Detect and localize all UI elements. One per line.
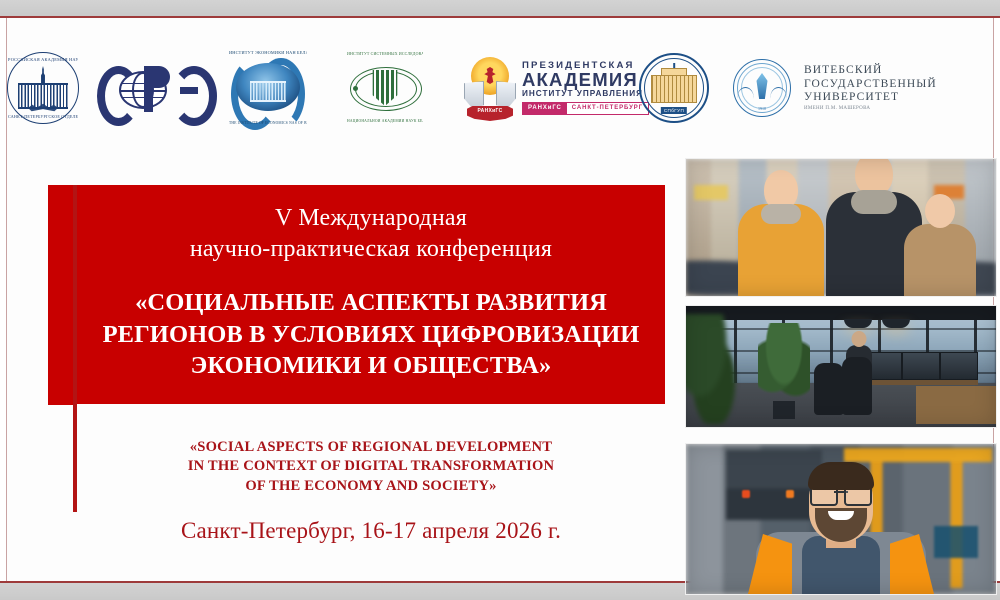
conference-title: «СОЦИАЛЬНЫЕ АСПЕКТЫ РАЗВИТИЯ РЕГИОНОВ В … bbox=[103, 287, 640, 381]
ras-spb-tower-icon bbox=[40, 66, 47, 84]
logo-institute-economics-nas-belarus: ИНСТИТУТ ЭКОНОМИКИ НАН БЕЛАРУСИ THE INST… bbox=[215, 52, 337, 124]
conference-title-english-line-2: IN THE CONTEXT OF DIGITAL TRANSFORMATION bbox=[81, 457, 661, 476]
ranepa-wing-right-icon bbox=[496, 81, 516, 109]
conference-title-banner: V Международная научно-практическая конф… bbox=[77, 185, 665, 404]
logo-iprye-ran bbox=[85, 52, 215, 124]
conference-place-and-date: Санкт-Петербург, 16-17 апреля 2026 г. bbox=[81, 518, 661, 544]
photo-3-canvas bbox=[686, 444, 996, 594]
conference-title-line-3: ЭКОНОМИКИ И ОБЩЕСТВА» bbox=[103, 350, 640, 381]
institute-system-research-seal-icon: ИНСТИТУТ СИСТЕМНЫХ ИССЛЕДОВАНИЙ В АПК НА… bbox=[347, 50, 423, 126]
iprye-letter-e-icon bbox=[171, 66, 217, 126]
institute-system-research-top-text: ИНСТИТУТ СИСТЕМНЫХ ИССЛЕДОВАНИЙ В АПК bbox=[347, 52, 423, 56]
photo-2-vignette bbox=[686, 306, 996, 427]
photo-modern-office-workplace bbox=[685, 305, 997, 428]
conference-title-english-line-3: OF THE ECONOMY AND SOCIETY» bbox=[81, 477, 661, 496]
logo-ras-spb: РОССИЙСКАЯ АКАДЕМИЯ НАУК САНКТ-ПЕТЕРБУРГ… bbox=[7, 52, 85, 124]
vitebsk-seal-icon: 1910 bbox=[733, 59, 791, 117]
spbgup-label: СПбГУП bbox=[661, 107, 687, 114]
frame-band-top bbox=[0, 0, 1000, 16]
conference-title-english: «SOCIAL ASPECTS OF REGIONAL DEVELOPMENT … bbox=[81, 438, 661, 496]
conference-title-line-1: «СОЦИАЛЬНЫЕ АСПЕКТЫ РАЗВИТИЯ bbox=[103, 287, 640, 318]
ranepa-wing-left-icon bbox=[464, 81, 484, 109]
photo-3-vignette bbox=[686, 444, 996, 594]
logo-institute-system-research-apc: ИНСТИТУТ СИСТЕМНЫХ ИССЛЕДОВАНИЙ В АПК НА… bbox=[337, 52, 451, 124]
conference-title-line-2: РЕГИОНОВ В УСЛОВИЯХ ЦИФРОВИЗАЦИИ bbox=[103, 319, 640, 350]
globe-latitude-lower bbox=[122, 97, 164, 98]
institute-economics-seal-icon: ИНСТИТУТ ЭКОНОМИКИ НАН БЕЛАРУСИ THE INST… bbox=[229, 49, 307, 127]
ranepa-ribbon-icon: РАНХиГС bbox=[467, 106, 513, 121]
ras-spb-seal-icon: РОССИЙСКАЯ АКАДЕМИЯ НАУК САНКТ-ПЕТЕРБУРГ… bbox=[7, 52, 79, 124]
institute-economics-bottom-text: THE INSTITUTE OF ECONOMICS NAS OF BELARU… bbox=[229, 121, 307, 125]
vitebsk-line-3: УНИВЕРСИТЕТ bbox=[804, 91, 937, 104]
logo-spbgup: СПбГУП bbox=[627, 52, 719, 124]
ranepa-badge-left: РАНХиГС bbox=[523, 103, 567, 114]
institute-system-research-bottom-text: НАЦИОНАЛЬНОЙ АКАДЕМИИ НАУК БЕЛАРУСИ bbox=[347, 119, 423, 123]
photo-1-vignette bbox=[686, 159, 996, 296]
spbgup-seal-icon: СПбГУП bbox=[639, 53, 709, 123]
logo-ranepa-presidential-academy: РАНХиГС ПРЕЗИДЕНТСКАЯ АКАДЕМИЯ ИНСТИТУТ … bbox=[451, 52, 627, 124]
iprye-letter-p-icon bbox=[144, 66, 153, 112]
accent-slab bbox=[48, 185, 73, 405]
organizer-logo-strip: РОССИЙСКАЯ АКАДЕМИЯ НАУК САНКТ-ПЕТЕРБУРГ… bbox=[7, 48, 993, 128]
conference-poster-slide: РОССИЙСКАЯ АКАДЕМИЯ НАУК САНКТ-ПЕТЕРБУРГ… bbox=[0, 0, 1000, 600]
vitebsk-subline: ИМЕНИ П.М. МАШЕРОВА bbox=[804, 106, 937, 112]
ras-spb-top-text: РОССИЙСКАЯ АКАДЕМИЯ НАУК bbox=[8, 57, 78, 62]
poster-page: РОССИЙСКАЯ АКАДЕМИЯ НАУК САНКТ-ПЕТЕРБУРГ… bbox=[7, 18, 993, 581]
ras-spb-bottom-text: САНКТ-ПЕТЕРБУРГСКОЕ ОТДЕЛЕНИЕ bbox=[8, 114, 78, 119]
logo-vitebsk-state-university: 1910 ВИТЕБСКИЙ ГОСУДАРСТВЕННЫЙ УНИВЕРСИТ… bbox=[719, 52, 883, 124]
institute-economics-top-text: ИНСТИТУТ ЭКОНОМИКИ НАН БЕЛАРУСИ bbox=[229, 50, 307, 55]
vitebsk-year: 1910 bbox=[733, 106, 791, 111]
photo-industrial-worker bbox=[685, 443, 997, 595]
conference-eyebrow-line-2: научно-практическая конференция bbox=[190, 234, 552, 265]
photo-1-canvas bbox=[686, 159, 996, 296]
isr-accent-dot bbox=[353, 86, 358, 91]
vitebsk-wordmark: ВИТЕБСКИЙ ГОСУДАРСТВЕННЫЙ УНИВЕРСИТЕТ ИМ… bbox=[804, 64, 937, 111]
ranepa-ribbon-text: РАНХиГС bbox=[467, 108, 513, 114]
photo-family-city-street bbox=[685, 158, 997, 297]
conference-title-english-line-1: «SOCIAL ASPECTS OF REGIONAL DEVELOPMENT bbox=[81, 438, 661, 457]
vitebsk-line-1: ВИТЕБСКИЙ bbox=[804, 64, 937, 77]
spbgup-building-icon bbox=[651, 75, 697, 103]
ranepa-emblem-icon: РАНХиГС bbox=[465, 55, 515, 121]
conference-eyebrow-line-1: V Международная bbox=[190, 203, 552, 234]
institute-economics-building-icon bbox=[236, 63, 300, 111]
iprye-wordmark-icon bbox=[97, 64, 203, 112]
conference-eyebrow: V Международная научно-практическая конф… bbox=[190, 203, 552, 265]
vitebsk-line-2: ГОСУДАРСТВЕННЫЙ bbox=[804, 78, 937, 91]
photo-2-canvas bbox=[686, 306, 996, 427]
